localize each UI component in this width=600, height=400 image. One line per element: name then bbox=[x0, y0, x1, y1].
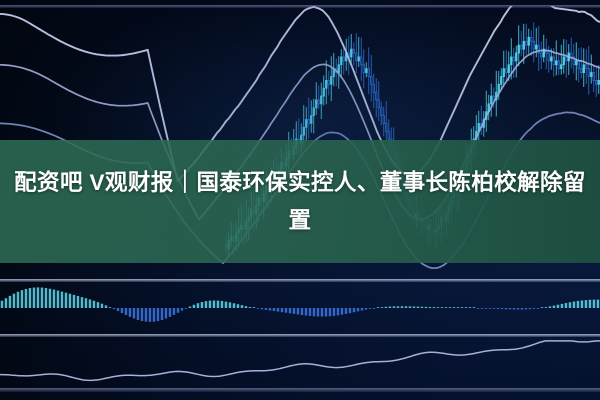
headline-text: 配资吧 V观财报｜国泰环保实控人、董事长陈柏校解除留置 bbox=[14, 164, 586, 240]
news-banner: 配资吧 V观财报｜国泰环保实控人、董事长陈柏校解除留置 bbox=[0, 0, 600, 400]
headline-band: 配资吧 V观财报｜国泰环保实控人、董事长陈柏校解除留置 bbox=[0, 140, 600, 263]
